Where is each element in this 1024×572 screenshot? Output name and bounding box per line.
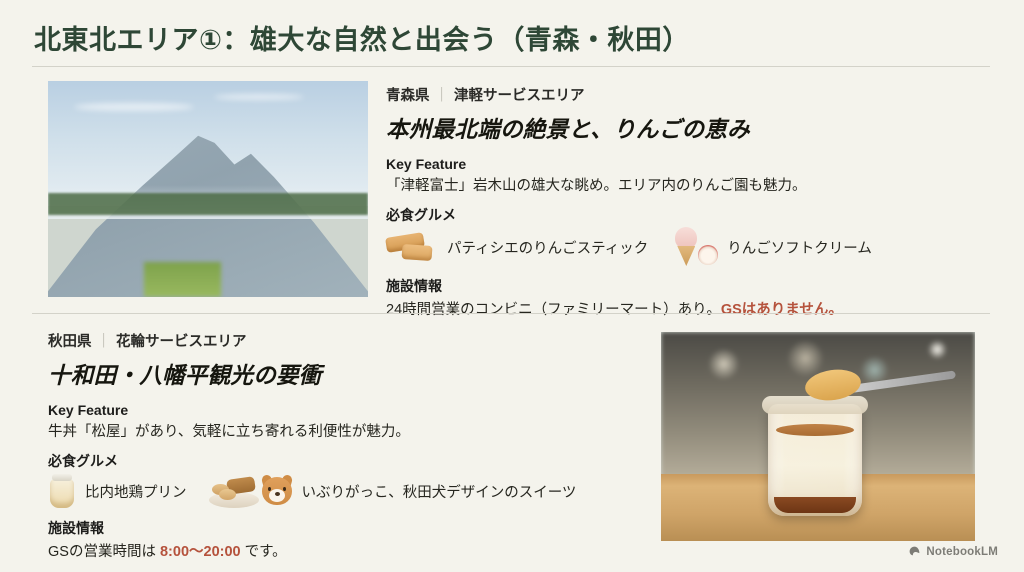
page-title: 北東北エリア①：雄大な自然と出会う（青森・秋田） bbox=[34, 18, 690, 57]
gourmet-item-label: パティシエのりんごスティック bbox=[447, 237, 648, 258]
notebooklm-logo-icon bbox=[908, 545, 921, 558]
apple-pastry-stick-icon bbox=[386, 232, 438, 262]
iburigakko-plate-icon bbox=[209, 474, 259, 508]
facility-text-main: 24時間営業のコンビニ（ファミリーマート）あり。 bbox=[386, 302, 721, 318]
title-block: 北東北エリア①：雄大な自然と出会う（青森・秋田） bbox=[0, 0, 1024, 70]
key-feature-text: 「津軽富士」岩木山の雄大な眺め。エリア内のりんご園も魅力。 bbox=[386, 174, 946, 195]
gourmet-item: パティシエのりんごスティック bbox=[386, 232, 648, 262]
key-feature-label: Key Feature bbox=[48, 402, 648, 418]
gourmet-item: りんごソフトクリーム bbox=[670, 227, 872, 267]
facility-text: 24時間営業のコンビニ（ファミリーマート）あり。GSはありません。 bbox=[386, 298, 946, 319]
facility-label: 施設情報 bbox=[48, 518, 648, 538]
slide-root: 北東北エリア①：雄大な自然と出会う（青森・秋田） 青森県｜津軽サービスエリア 本… bbox=[0, 0, 1024, 572]
prefecture-label: 秋田県 bbox=[48, 334, 92, 350]
gourmet-label: 必食グルメ bbox=[386, 205, 946, 225]
card-tsugaru-sa: 青森県｜津軽サービスエリア 本州最北端の絶景と、りんごの恵み Key Featu… bbox=[386, 84, 946, 329]
area-line: 青森県｜津軽サービスエリア bbox=[386, 84, 946, 105]
hinai-jidori-pudding-photo bbox=[661, 332, 975, 541]
area-name: 花輪サービスエリア bbox=[116, 334, 247, 350]
gourmet-item-label: いぶりがっこ、秋田犬デザインのスイーツ bbox=[302, 481, 577, 502]
section-divider bbox=[32, 313, 990, 314]
facility-text: GSの営業時間は 8:00〜20:00 です。 bbox=[48, 540, 648, 561]
facility-accent: 8:00〜20:00 bbox=[160, 544, 241, 560]
facility-accent: GSはありません。 bbox=[721, 302, 843, 318]
title-divider bbox=[32, 66, 990, 67]
gourmet-row: パティシエのりんごスティック りんごソフトクリーム bbox=[386, 227, 946, 267]
gourmet-label: 必食グルメ bbox=[48, 451, 648, 471]
watermark-label: NotebookLM bbox=[926, 546, 998, 558]
separator: ｜ bbox=[430, 88, 455, 104]
gourmet-item-label: 比内地鶏プリン bbox=[85, 481, 187, 502]
shiba-inu-icon bbox=[261, 475, 293, 507]
key-feature-text: 牛丼「松屋」があり、気軽に立ち寄れる利便性が魅力。 bbox=[48, 420, 648, 441]
facility-label: 施設情報 bbox=[386, 276, 946, 296]
key-feature-label: Key Feature bbox=[386, 156, 946, 172]
card-headline: 十和田・八幡平観光の要衝 bbox=[48, 358, 648, 390]
mount-iwaki-apple-orchard-photo bbox=[48, 81, 368, 297]
gourmet-row: 比内地鶏プリン いぶりがっこ、秋田犬デザインのスイーツ bbox=[48, 473, 648, 509]
prefecture-label: 青森県 bbox=[386, 88, 430, 104]
facility-text-after: です。 bbox=[241, 544, 287, 560]
grass-path bbox=[144, 262, 221, 297]
gourmet-item: いぶりがっこ、秋田犬デザインのスイーツ bbox=[209, 474, 577, 508]
pudding-jar-icon bbox=[48, 473, 76, 509]
card-hanawa-sa: 秋田県｜花輪サービスエリア 十和田・八幡平観光の要衝 Key Feature 牛… bbox=[48, 330, 648, 571]
cloud-streak-icon bbox=[214, 94, 304, 100]
area-name: 津軽サービスエリア bbox=[454, 88, 585, 104]
gourmet-item-label: りんごソフトクリーム bbox=[727, 237, 872, 258]
card-headline: 本州最北端の絶景と、りんごの恵み bbox=[386, 112, 946, 144]
facility-text-before: GSの営業時間は bbox=[48, 544, 160, 560]
separator: ｜ bbox=[92, 334, 117, 350]
area-line: 秋田県｜花輪サービスエリア bbox=[48, 330, 648, 351]
cloud-streak-icon bbox=[74, 103, 194, 111]
watermark: NotebookLM bbox=[908, 545, 998, 558]
apple-soft-serve-icon bbox=[670, 227, 718, 267]
pudding-jar-shape bbox=[768, 404, 862, 516]
gourmet-item: 比内地鶏プリン bbox=[48, 473, 187, 509]
